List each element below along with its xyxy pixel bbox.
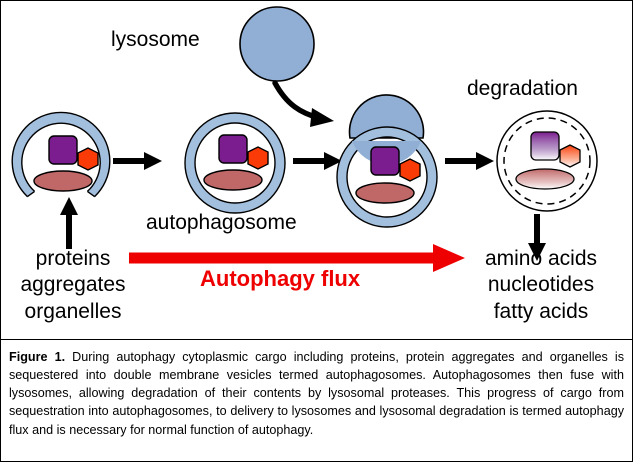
- cargo-organelle-ellipse-3: [356, 183, 414, 203]
- label-degradation: degradation: [467, 77, 578, 101]
- arrow-cargo-input-up: [60, 197, 78, 249]
- cargo-protein-square-1: [49, 136, 77, 164]
- lysosome-vesicle: [240, 7, 314, 81]
- diagram-area: lysosome autophagosome degradation prote…: [1, 1, 632, 339]
- caption-label: Figure 1.: [9, 350, 65, 364]
- input-line-proteins: proteins: [11, 246, 135, 272]
- label-autophagy-flux: Autophagy flux: [200, 266, 360, 292]
- stage-autophagosome: [185, 113, 285, 213]
- cargo-organelle-ellipse-1: [34, 171, 92, 191]
- label-autophagosome: autophagosome: [146, 211, 297, 235]
- arrow-fusion-to-autolysosome: [445, 152, 494, 170]
- stage-phagophore: [12, 112, 110, 196]
- input-line-organelles: organelles: [11, 299, 135, 325]
- cargo-organelle-ellipse-2: [204, 170, 262, 190]
- degrading-protein-square: [531, 132, 559, 160]
- arrow-autophagosome-to-fusion: [293, 152, 342, 170]
- degrading-aggregate-octagon: [560, 145, 580, 167]
- cargo-aggregate-octagon-3: [400, 159, 420, 181]
- lysosome-body: [240, 7, 314, 81]
- output-line-amino-acids: amino acids: [453, 246, 629, 272]
- arrow-lysosome-fusion-curve: [275, 83, 334, 127]
- degrading-organelle-ellipse: [516, 169, 574, 189]
- output-line-fatty-acids: fatty acids: [453, 299, 629, 325]
- cargo-protein-square-3: [371, 147, 399, 175]
- arrow-phagophore-to-autophagosome: [113, 152, 162, 170]
- cargo-aggregate-octagon-2: [248, 147, 268, 169]
- stage-autolysosome: [497, 111, 597, 211]
- caption-text: During autophagy cytoplasmic cargo inclu…: [9, 350, 624, 437]
- input-line-aggregates: aggregates: [11, 272, 135, 298]
- cargo-protein-square-2: [219, 135, 247, 163]
- label-degradation-products: amino acids nucleotides fatty acids: [453, 246, 629, 325]
- stage-fusion: [337, 95, 437, 227]
- label-cargo-inputs: proteins aggregates organelles: [11, 246, 135, 325]
- output-line-nucleotides: nucleotides: [453, 272, 629, 298]
- figure-caption: Figure 1. During autophagy cytoplasmic c…: [9, 348, 624, 439]
- autolysosome-outer-circle: [497, 111, 597, 211]
- caption-divider: [1, 339, 632, 340]
- figure-container: lysosome autophagosome degradation prote…: [0, 0, 633, 462]
- label-lysosome: lysosome: [111, 28, 200, 52]
- cargo-aggregate-octagon-1: [78, 148, 98, 170]
